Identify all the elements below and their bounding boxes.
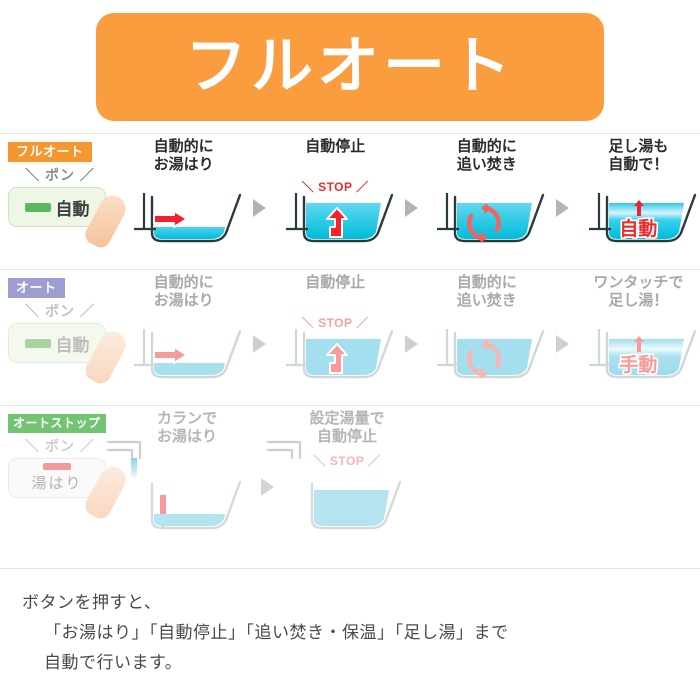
divider-row3 <box>0 568 700 569</box>
caption-line-3: 自動で行います。 <box>22 648 700 678</box>
control-button-auto[interactable]: 自動 <box>8 323 106 363</box>
row-auto: オート ＼ ポン ／ 自動 自動的に お湯はり <box>0 270 700 405</box>
row-auto-steps: 自動的に お湯はり <box>122 270 700 405</box>
tub-label: 自動 <box>577 214 700 241</box>
arrow-right-icon <box>152 346 190 369</box>
press-text-auto-stop: ＼ ポン ／ <box>8 436 112 456</box>
row-full-auto-steps: 自動的に お湯はり <box>122 134 700 269</box>
step-separator <box>548 134 576 269</box>
step-add-water: 足し湯も 自動で！ <box>577 134 700 269</box>
tub-label: 手動 <box>577 350 700 377</box>
step-caption: 自動的に お湯はり <box>122 270 245 311</box>
page-title: フルオート <box>185 36 515 98</box>
triangle-icon <box>261 478 274 496</box>
bathtub-low <box>130 476 248 536</box>
control-button-full-auto[interactable]: 自動 <box>8 187 106 227</box>
step-add-water-manual: ワンタッチで 足し湯！ <box>577 270 700 405</box>
button-dash-icon <box>43 463 71 470</box>
step-auto-stop-setvolume: 設定湯量で 自動停止 ＼ STOP ／ <box>282 406 412 556</box>
bathtub-full <box>290 476 408 536</box>
arrow-up-icon <box>324 342 350 381</box>
step-separator <box>245 270 273 405</box>
control-button-auto-stop[interactable]: 湯はり <box>8 458 106 498</box>
caption-line-2: 「お湯はり」「自動停止」「追い焚き・保温」「足し湯」まで <box>22 618 700 648</box>
step-separator <box>548 270 576 405</box>
triangle-icon <box>556 335 569 353</box>
step-caption: ワンタッチで 足し湯！ <box>577 270 700 311</box>
footer-caption: ボタンを押すと、 「お湯はり」「自動停止」「追い焚き・保温」「足し湯」まで 自動… <box>0 588 700 677</box>
button-dash-icon <box>25 203 51 212</box>
control-button-label: 湯はり <box>31 472 82 493</box>
stop-label: ＼ STOP ／ <box>282 452 412 469</box>
step-auto-stop: 自動停止 ＼ STOP ／ <box>274 134 397 269</box>
row-auto-stop-legend: オートストップ ＼ ポン ／ 湯はり <box>8 414 118 498</box>
step-fill-water: 自動的に お湯はり <box>122 270 245 405</box>
step-separator <box>397 134 425 269</box>
row-auto-stop-steps: カランで お湯はり <box>122 406 700 556</box>
step-auto-stop: 自動停止 ＼ STOP ／ <box>274 270 397 405</box>
control-button-label: 自動 <box>56 195 90 220</box>
step-caption: 自動的に お湯はり <box>122 134 245 175</box>
triangle-icon <box>405 199 418 217</box>
row-full-auto-legend: フルオート ＼ ポン ／ 自動 <box>8 142 118 227</box>
triangle-icon <box>253 335 266 353</box>
step-caption: 足し湯も 自動で！ <box>577 134 700 175</box>
arrow-up-icon <box>324 206 350 245</box>
step-reheat: 自動的に 追い焚き <box>425 270 548 405</box>
triangle-icon <box>253 199 266 217</box>
control-button-label: 自動 <box>56 331 90 356</box>
step-reheat: 自動的に 追い焚き <box>425 134 548 269</box>
step-caption: 自動的に 追い焚き <box>425 270 548 311</box>
row-full-auto: フルオート ＼ ポン ／ 自動 自動的に お湯はり <box>0 134 700 269</box>
reheat-cycle-icon <box>463 338 505 385</box>
step-faucet-fill: カランで お湯はり <box>122 406 252 556</box>
arrow-right-icon <box>152 210 190 233</box>
step-caption: 自動停止 <box>274 134 397 156</box>
header-banner: フルオート <box>96 13 604 121</box>
badge-full-auto: フルオート <box>8 142 92 162</box>
triangle-icon <box>405 335 418 353</box>
infographic-root: フルオート フルオート ＼ ポン ／ 自動 自動的に お湯はり <box>0 0 700 700</box>
press-text-full-auto: ＼ ポン ／ <box>8 165 112 185</box>
step-caption: 自動停止 <box>274 270 397 292</box>
faucet-icon <box>106 432 162 478</box>
badge-auto-stop: オートストップ <box>8 414 106 433</box>
button-dash-icon <box>25 339 51 348</box>
step-separator <box>252 406 282 556</box>
row-auto-stop: オートストップ ＼ ポン ／ 湯はり カランで お湯はり <box>0 406 700 556</box>
step-separator <box>397 270 425 405</box>
header-banner-area: フルオート <box>0 0 700 133</box>
step-separator <box>245 134 273 269</box>
step-caption: 自動的に 追い焚き <box>425 134 548 175</box>
badge-auto: オート <box>8 278 65 298</box>
triangle-icon <box>556 199 569 217</box>
press-text-auto: ＼ ポン ／ <box>8 301 112 321</box>
caption-line-1: ボタンを押すと、 <box>22 588 700 618</box>
step-fill-water: 自動的に お湯はり <box>122 134 245 269</box>
reheat-cycle-icon <box>463 202 505 249</box>
row-auto-legend: オート ＼ ポン ／ 自動 <box>8 278 118 363</box>
